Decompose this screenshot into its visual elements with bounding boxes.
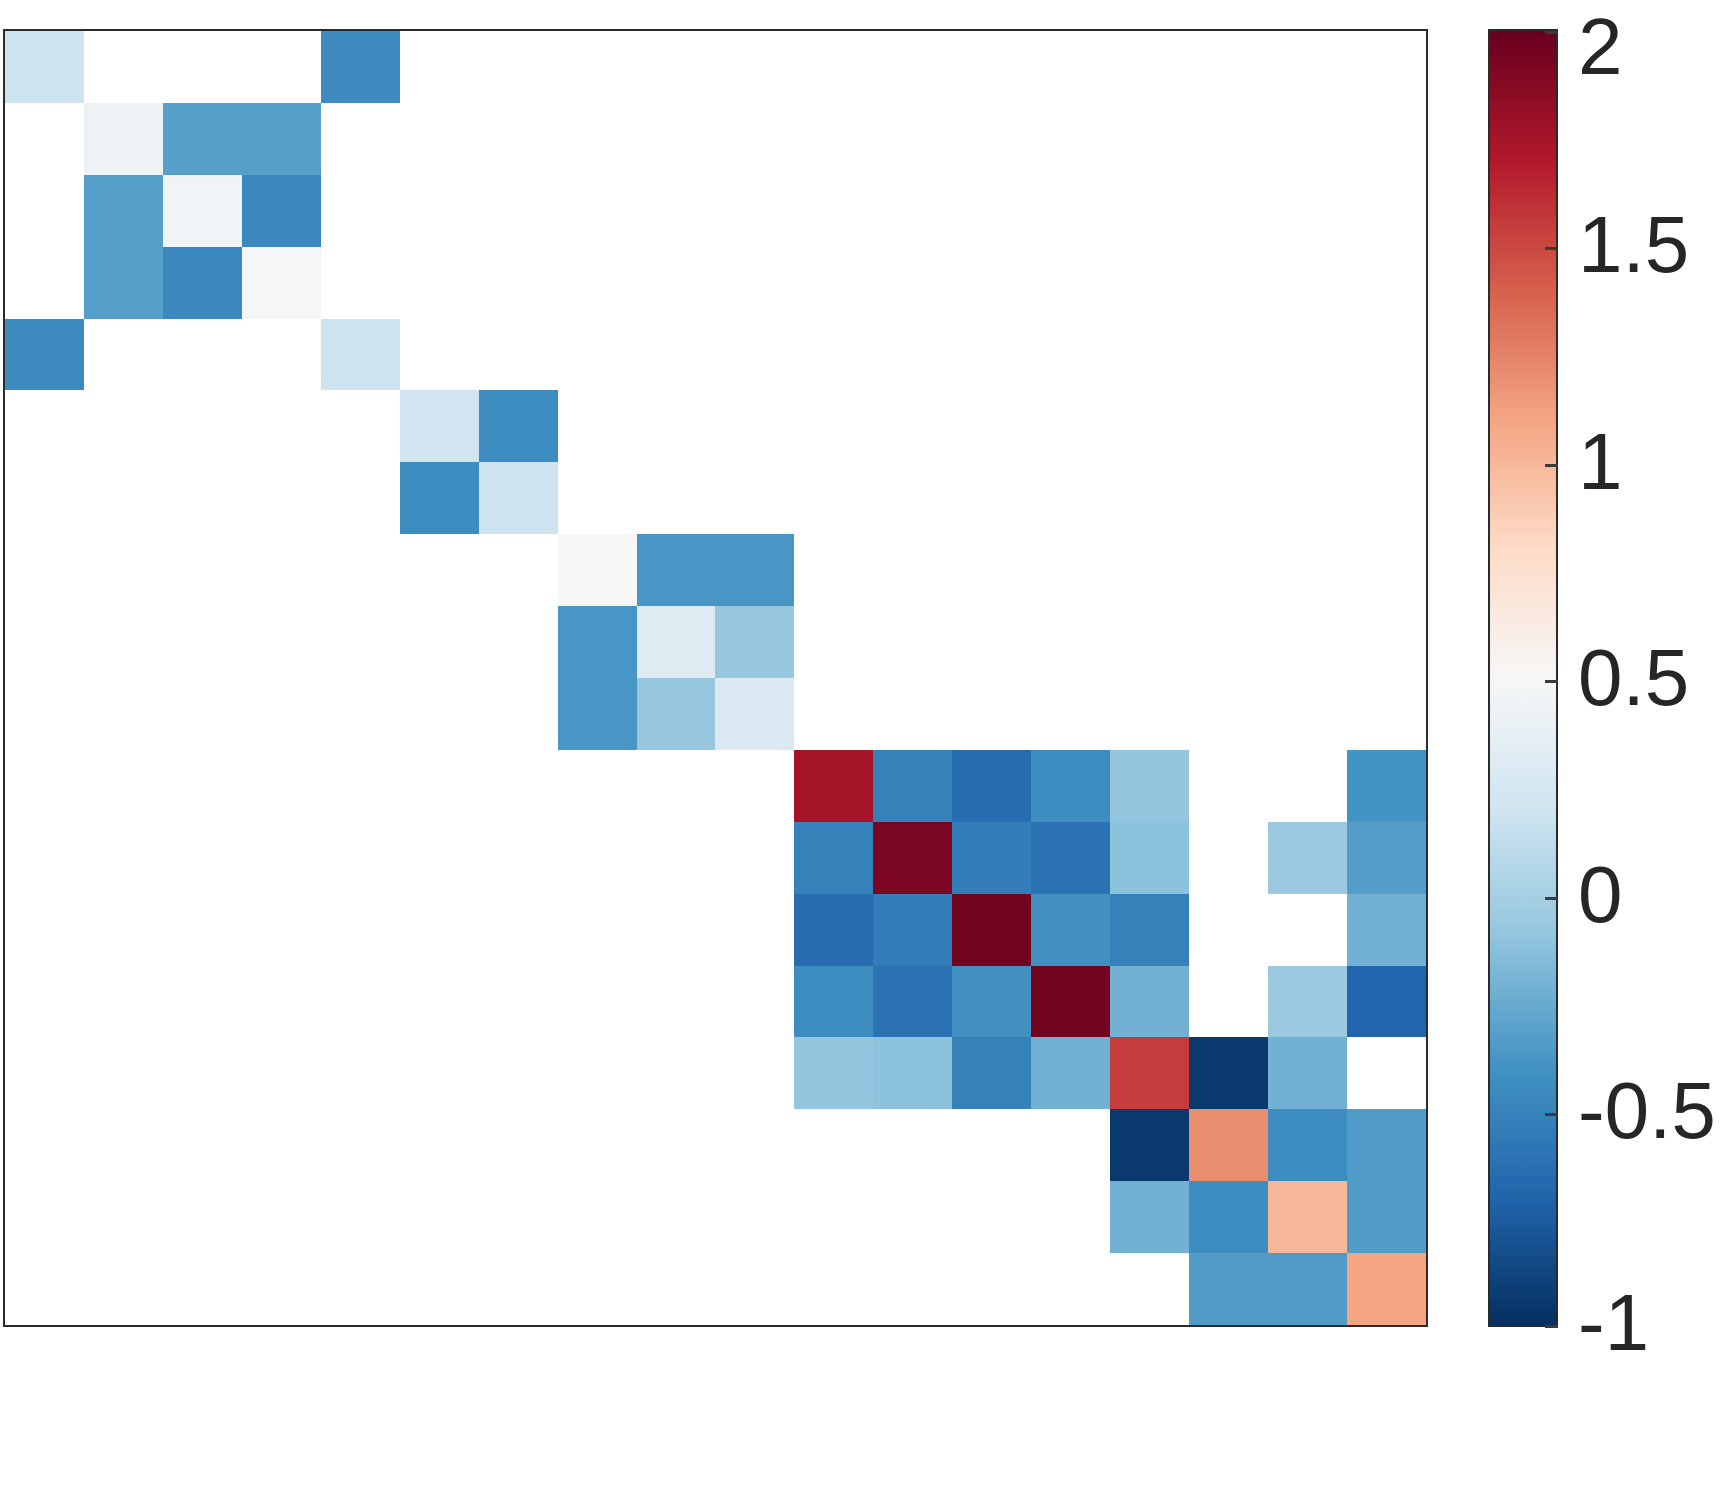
heatmap-cell — [1031, 103, 1110, 175]
heatmap-cell — [873, 678, 952, 750]
heatmap-cell — [5, 103, 84, 175]
heatmap-cell — [479, 966, 558, 1038]
heatmap-cell — [1031, 894, 1110, 966]
heatmap-cell — [794, 822, 873, 894]
heatmap-cell — [1110, 390, 1189, 462]
heatmap-cell — [637, 750, 716, 822]
heatmap-cell — [242, 1037, 321, 1109]
heatmap-cell — [1268, 462, 1347, 534]
heatmap-cell — [1268, 1253, 1347, 1325]
heatmap-cell — [1347, 1181, 1426, 1253]
colorbar-tick-neg0p5 — [1545, 1113, 1558, 1116]
heatmap-cell — [479, 678, 558, 750]
heatmap-cell — [715, 534, 794, 606]
heatmap-cell — [321, 966, 400, 1038]
heatmap-cell — [1347, 175, 1426, 247]
heatmap-cell — [952, 247, 1031, 319]
heatmap-cell — [715, 175, 794, 247]
heatmap-cell — [400, 31, 479, 103]
heatmap-cell — [1189, 462, 1268, 534]
heatmap-cell — [952, 894, 1031, 966]
heatmap-cell — [952, 31, 1031, 103]
heatmap-cell — [5, 462, 84, 534]
heatmap-cell — [242, 606, 321, 678]
heatmap-cell — [1268, 1037, 1347, 1109]
heatmap-cell — [952, 462, 1031, 534]
heatmap-cell — [5, 894, 84, 966]
heatmap-cell — [84, 247, 163, 319]
heatmap-cell — [873, 175, 952, 247]
heatmap-cell — [400, 390, 479, 462]
heatmap-cell — [794, 390, 873, 462]
heatmap-cell — [479, 462, 558, 534]
heatmap-cell — [637, 390, 716, 462]
heatmap-cell — [1268, 534, 1347, 606]
heatmap-cell — [163, 894, 242, 966]
heatmap-cell — [84, 1253, 163, 1325]
heatmap-cell — [5, 31, 84, 103]
heatmap-cell — [321, 750, 400, 822]
colorbar-label-0: 0 — [1578, 855, 1623, 935]
heatmap-cell — [873, 534, 952, 606]
heatmap-cell — [1347, 534, 1426, 606]
heatmap-cell — [163, 1109, 242, 1181]
heatmap-cell — [1031, 822, 1110, 894]
heatmap-cell — [1347, 462, 1426, 534]
heatmap-cell — [952, 534, 1031, 606]
heatmap-cell — [163, 247, 242, 319]
heatmap-cell — [952, 1037, 1031, 1109]
heatmap-cell — [84, 175, 163, 247]
heatmap-cell — [794, 966, 873, 1038]
heatmap-cell — [873, 966, 952, 1038]
heatmap-cell — [1347, 966, 1426, 1038]
heatmap-cell — [84, 894, 163, 966]
heatmap-cell — [794, 750, 873, 822]
heatmap-cell — [1110, 175, 1189, 247]
heatmap-cell — [873, 1253, 952, 1325]
heatmap-cell — [479, 103, 558, 175]
heatmap-cell — [5, 319, 84, 391]
heatmap-cell — [715, 31, 794, 103]
heatmap-cell — [242, 1181, 321, 1253]
heatmap-cell — [400, 103, 479, 175]
heatmap-cell — [952, 175, 1031, 247]
heatmap-cell — [321, 175, 400, 247]
heatmap-cell — [5, 247, 84, 319]
heatmap-cell — [5, 750, 84, 822]
heatmap-cell — [715, 247, 794, 319]
heatmap-cell — [5, 606, 84, 678]
heatmap-cell — [479, 822, 558, 894]
heatmap-grid — [5, 31, 1426, 1325]
heatmap-cell — [558, 1181, 637, 1253]
heatmap-cell — [242, 390, 321, 462]
heatmap-cell — [873, 103, 952, 175]
heatmap-cell — [400, 750, 479, 822]
heatmap-cell — [1268, 750, 1347, 822]
heatmap-cell — [242, 1109, 321, 1181]
heatmap-cell — [1347, 103, 1426, 175]
heatmap-cell — [794, 894, 873, 966]
heatmap-cell — [1110, 319, 1189, 391]
heatmap-cell — [84, 462, 163, 534]
heatmap-cell — [952, 103, 1031, 175]
heatmap-cell — [242, 966, 321, 1038]
heatmap-cell — [479, 390, 558, 462]
heatmap-cell — [1189, 966, 1268, 1038]
heatmap-cell — [715, 1253, 794, 1325]
heatmap-cell — [1110, 462, 1189, 534]
heatmap-cell — [242, 462, 321, 534]
heatmap-cell — [715, 1181, 794, 1253]
heatmap-cell — [558, 750, 637, 822]
heatmap-cell — [637, 606, 716, 678]
heatmap-cell — [715, 750, 794, 822]
heatmap-cell — [5, 390, 84, 462]
heatmap-cell — [1110, 606, 1189, 678]
heatmap-cell — [873, 1181, 952, 1253]
heatmap-cell — [400, 1181, 479, 1253]
heatmap-cell — [163, 822, 242, 894]
heatmap-cell — [1031, 175, 1110, 247]
colorbar-tick-neg1 — [1545, 1325, 1558, 1328]
heatmap-cell — [558, 319, 637, 391]
heatmap-cell — [715, 390, 794, 462]
heatmap-cell — [242, 534, 321, 606]
heatmap-cell — [715, 678, 794, 750]
heatmap-cell — [163, 319, 242, 391]
heatmap-cell — [873, 1109, 952, 1181]
heatmap-cell — [321, 1037, 400, 1109]
heatmap-cell — [715, 894, 794, 966]
colorbar-label-neg1: -1 — [1578, 1283, 1649, 1363]
heatmap-cell — [794, 1109, 873, 1181]
heatmap-cell — [400, 1109, 479, 1181]
heatmap-cell — [479, 175, 558, 247]
heatmap-cell — [1189, 103, 1268, 175]
heatmap-cell — [1031, 606, 1110, 678]
heatmap-cell — [321, 678, 400, 750]
heatmap-cell — [1189, 247, 1268, 319]
heatmap-cell — [794, 175, 873, 247]
heatmap-cell — [794, 462, 873, 534]
heatmap-cell — [873, 390, 952, 462]
heatmap-cell — [637, 319, 716, 391]
heatmap-cell — [1189, 1253, 1268, 1325]
heatmap-cell — [715, 822, 794, 894]
heatmap-cell — [163, 534, 242, 606]
heatmap-cell — [84, 1109, 163, 1181]
heatmap-cell — [5, 678, 84, 750]
heatmap-cell — [321, 319, 400, 391]
heatmap-cell — [400, 894, 479, 966]
heatmap-cell — [321, 822, 400, 894]
heatmap-cell — [84, 678, 163, 750]
heatmap-cell — [952, 1181, 1031, 1253]
heatmap-cell — [1189, 678, 1268, 750]
heatmap-cell — [1031, 462, 1110, 534]
heatmap-cell — [1031, 247, 1110, 319]
heatmap-cell — [1268, 678, 1347, 750]
heatmap-cell — [84, 31, 163, 103]
heatmap-cell — [1268, 1181, 1347, 1253]
colorbar — [1488, 29, 1558, 1327]
heatmap-cell — [558, 1037, 637, 1109]
heatmap-cell — [1347, 247, 1426, 319]
heatmap-cell — [952, 390, 1031, 462]
heatmap-cell — [5, 175, 84, 247]
heatmap-cell — [1347, 31, 1426, 103]
heatmap-cell — [794, 1037, 873, 1109]
heatmap-cell — [1347, 1109, 1426, 1181]
heatmap-cell — [242, 103, 321, 175]
heatmap-cell — [1268, 390, 1347, 462]
heatmap-cell — [400, 319, 479, 391]
heatmap-cell — [558, 390, 637, 462]
heatmap-cell — [1031, 966, 1110, 1038]
heatmap-cell — [400, 1037, 479, 1109]
colorbar-label-1p5: 1.5 — [1578, 205, 1689, 285]
heatmap-cell — [163, 390, 242, 462]
heatmap-cell — [1110, 822, 1189, 894]
heatmap-cell — [1268, 247, 1347, 319]
heatmap-cell — [1268, 103, 1347, 175]
heatmap-cell — [321, 390, 400, 462]
heatmap-cell — [1110, 966, 1189, 1038]
heatmap-cell — [1110, 1253, 1189, 1325]
heatmap-cell — [1110, 1037, 1189, 1109]
heatmap-cell — [873, 31, 952, 103]
colorbar-label-2: 2 — [1578, 7, 1623, 87]
heatmap-cell — [1031, 390, 1110, 462]
colorbar-label-0p5: 0.5 — [1578, 638, 1689, 718]
heatmap-cell — [715, 1037, 794, 1109]
heatmap-cell — [873, 1037, 952, 1109]
heatmap-cell — [163, 1181, 242, 1253]
heatmap-cell — [400, 606, 479, 678]
heatmap-cell — [84, 606, 163, 678]
heatmap-cell — [558, 534, 637, 606]
heatmap-cell — [1268, 822, 1347, 894]
heatmap-cell — [5, 822, 84, 894]
heatmap-cell — [5, 1037, 84, 1109]
heatmap-cell — [5, 1109, 84, 1181]
heatmap-cell — [479, 31, 558, 103]
heatmap-cell — [1189, 750, 1268, 822]
heatmap-cell — [1189, 1037, 1268, 1109]
heatmap-cell — [952, 678, 1031, 750]
heatmap-cell — [321, 606, 400, 678]
colorbar-label-1: 1 — [1578, 422, 1623, 502]
heatmap-cell — [321, 1109, 400, 1181]
heatmap-cell — [794, 1181, 873, 1253]
heatmap-cell — [1031, 750, 1110, 822]
heatmap-cell — [715, 606, 794, 678]
heatmap-cell — [558, 894, 637, 966]
heatmap-cell — [321, 894, 400, 966]
heatmap-cell — [321, 462, 400, 534]
heatmap-cell — [637, 175, 716, 247]
heatmap-cell — [242, 750, 321, 822]
heatmap-cell — [637, 1037, 716, 1109]
heatmap-cell — [479, 1109, 558, 1181]
heatmap-cell — [5, 534, 84, 606]
heatmap-cell — [1268, 606, 1347, 678]
heatmap-cell — [1031, 1109, 1110, 1181]
heatmap-cell — [1110, 534, 1189, 606]
heatmap-cell — [242, 894, 321, 966]
colorbar-label-neg0p5: -0.5 — [1578, 1071, 1716, 1151]
heatmap-cell — [84, 534, 163, 606]
heatmap-cell — [84, 966, 163, 1038]
heatmap-cell — [952, 606, 1031, 678]
heatmap-cell — [1110, 31, 1189, 103]
heatmap-cell — [1268, 894, 1347, 966]
heatmap-cell — [1031, 678, 1110, 750]
heatmap-cell — [1347, 1253, 1426, 1325]
heatmap-cell — [1031, 1253, 1110, 1325]
heatmap-cell — [1031, 1037, 1110, 1109]
heatmap-cell — [84, 319, 163, 391]
heatmap-cell — [400, 678, 479, 750]
heatmap-cell — [873, 462, 952, 534]
heatmap-cell — [479, 319, 558, 391]
heatmap-cell — [1268, 31, 1347, 103]
colorbar-tick-1 — [1545, 464, 1558, 467]
heatmap-axes — [3, 29, 1428, 1327]
heatmap-cell — [1189, 606, 1268, 678]
heatmap-cell — [321, 103, 400, 175]
heatmap-cell — [321, 1181, 400, 1253]
heatmap-cell — [794, 534, 873, 606]
colorbar-tick-0 — [1545, 897, 1558, 900]
heatmap-cell — [637, 103, 716, 175]
heatmap-cell — [479, 247, 558, 319]
heatmap-cell — [242, 31, 321, 103]
heatmap-cell — [242, 822, 321, 894]
heatmap-cell — [873, 247, 952, 319]
heatmap-cell — [163, 1253, 242, 1325]
heatmap-cell — [952, 1109, 1031, 1181]
heatmap-cell — [163, 606, 242, 678]
heatmap-cell — [1110, 750, 1189, 822]
heatmap-cell — [637, 678, 716, 750]
heatmap-cell — [558, 966, 637, 1038]
heatmap-cell — [479, 1253, 558, 1325]
heatmap-cell — [794, 678, 873, 750]
heatmap-cell — [952, 319, 1031, 391]
heatmap-cell — [242, 1253, 321, 1325]
heatmap-cell — [794, 1253, 873, 1325]
heatmap-cell — [1347, 1037, 1426, 1109]
heatmap-cell — [558, 1109, 637, 1181]
heatmap-cell — [163, 103, 242, 175]
heatmap-cell — [321, 1253, 400, 1325]
heatmap-cell — [242, 247, 321, 319]
heatmap-cell — [794, 606, 873, 678]
heatmap-cell — [84, 750, 163, 822]
heatmap-cell — [637, 534, 716, 606]
heatmap-cell — [558, 678, 637, 750]
heatmap-cell — [1110, 247, 1189, 319]
heatmap-cell — [400, 822, 479, 894]
heatmap-cell — [952, 750, 1031, 822]
heatmap-cell — [558, 822, 637, 894]
heatmap-cell — [400, 247, 479, 319]
heatmap-cell — [163, 462, 242, 534]
heatmap-cell — [400, 534, 479, 606]
heatmap-cell — [715, 966, 794, 1038]
heatmap-cell — [873, 894, 952, 966]
heatmap-cell — [1189, 1109, 1268, 1181]
heatmap-cell — [479, 894, 558, 966]
heatmap-cell — [84, 1181, 163, 1253]
heatmap-cell — [242, 175, 321, 247]
heatmap-cell — [715, 319, 794, 391]
heatmap-cell — [1347, 606, 1426, 678]
heatmap-cell — [1189, 390, 1268, 462]
heatmap-cell — [163, 678, 242, 750]
heatmap-cell — [242, 319, 321, 391]
heatmap-cell — [163, 966, 242, 1038]
heatmap-cell — [637, 1181, 716, 1253]
heatmap-cell — [637, 247, 716, 319]
heatmap-cell — [163, 750, 242, 822]
heatmap-cell — [163, 1037, 242, 1109]
heatmap-cell — [873, 822, 952, 894]
heatmap-cell — [1347, 390, 1426, 462]
heatmap-cell — [1347, 319, 1426, 391]
heatmap-cell — [321, 31, 400, 103]
heatmap-cell — [400, 966, 479, 1038]
heatmap-cell — [1110, 894, 1189, 966]
heatmap-cell — [873, 750, 952, 822]
heatmap-cell — [242, 678, 321, 750]
heatmap-cell — [637, 894, 716, 966]
heatmap-cell — [1347, 750, 1426, 822]
heatmap-cell — [794, 103, 873, 175]
heatmap-cell — [873, 606, 952, 678]
colorbar-tick-2 — [1545, 31, 1558, 34]
heatmap-cell — [1268, 319, 1347, 391]
heatmap-cell — [479, 750, 558, 822]
heatmap-cell — [163, 175, 242, 247]
heatmap-cell — [1189, 319, 1268, 391]
heatmap-cell — [1268, 966, 1347, 1038]
heatmap-cell — [558, 1253, 637, 1325]
heatmap-cell — [5, 1253, 84, 1325]
heatmap-cell — [1110, 103, 1189, 175]
heatmap-cell — [1031, 1181, 1110, 1253]
heatmap-cell — [5, 1181, 84, 1253]
heatmap-cell — [321, 534, 400, 606]
heatmap-cell — [1189, 31, 1268, 103]
heatmap-cell — [479, 1037, 558, 1109]
heatmap-cell — [715, 1109, 794, 1181]
heatmap-cell — [558, 31, 637, 103]
heatmap-cell — [1347, 822, 1426, 894]
colorbar-gradient — [1490, 31, 1556, 1325]
heatmap-cell — [84, 103, 163, 175]
heatmap-cell — [1347, 894, 1426, 966]
heatmap-cell — [794, 247, 873, 319]
heatmap-cell — [1031, 31, 1110, 103]
heatmap-cell — [1110, 1109, 1189, 1181]
heatmap-cell — [1189, 894, 1268, 966]
heatmap-cell — [84, 822, 163, 894]
heatmap-cell — [1031, 319, 1110, 391]
